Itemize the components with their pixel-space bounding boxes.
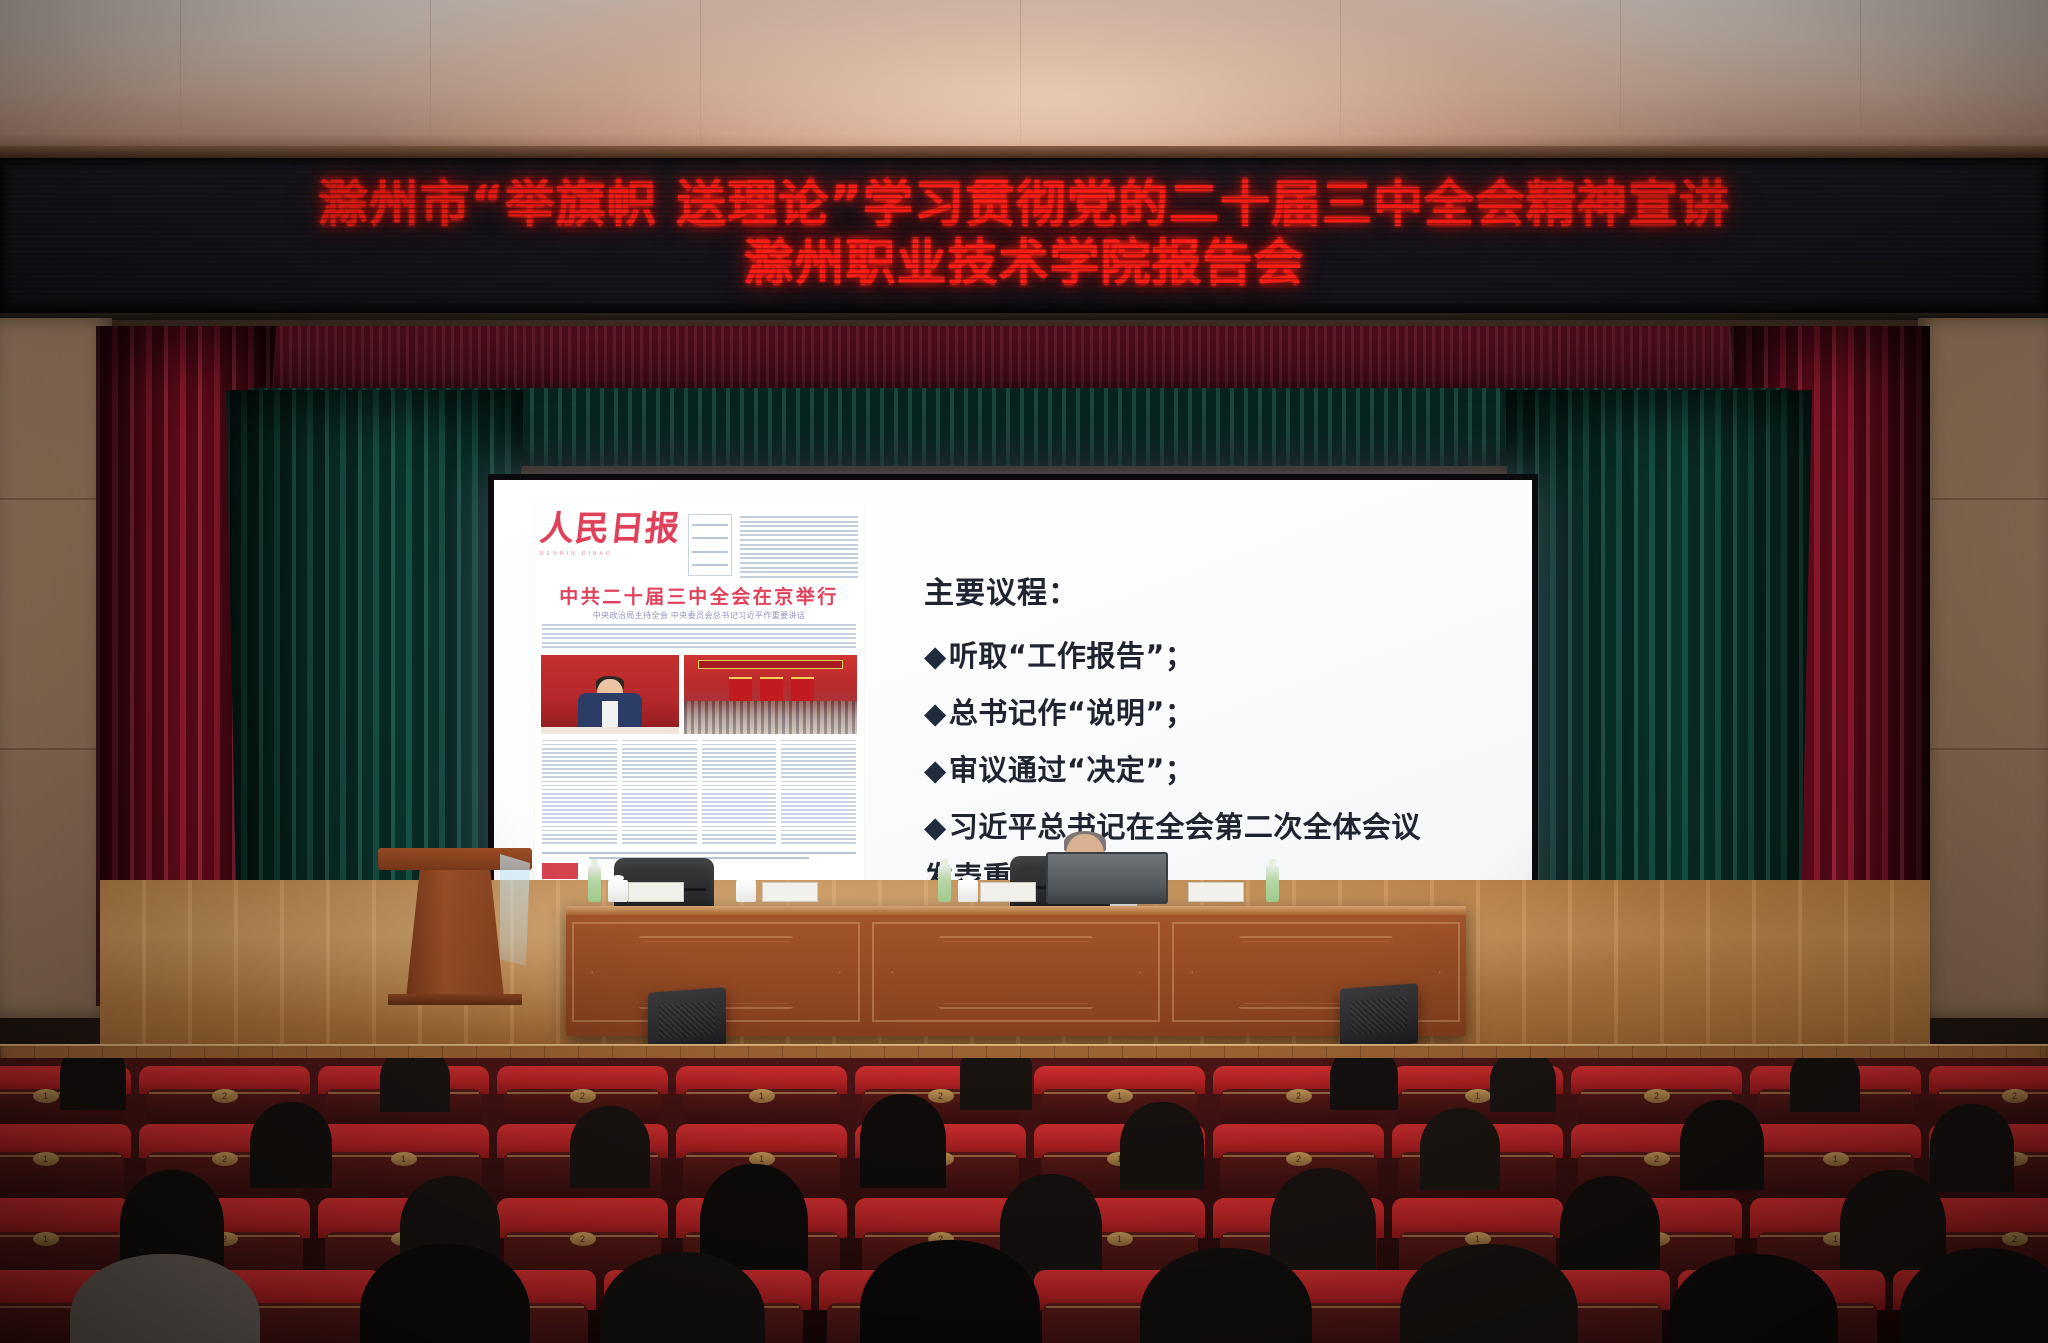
seat-number: 2 [212, 1152, 238, 1166]
seat-number: 2 [1286, 1089, 1312, 1103]
projection-screen: 人民日报 RENMIN RIBAO 中共二十届三中全会在京举行 中央政治局主持全… [494, 480, 1532, 910]
led-banner-line-2: 滁州职业技术学院报告会 [744, 232, 1305, 295]
agenda-title: 主要议程： [924, 568, 1504, 612]
agenda-item-3: ◆审议通过“决定”； [924, 752, 1504, 789]
lectern-body [406, 870, 504, 998]
table-nameplate [628, 882, 684, 902]
audience-area: 1 2 1 2 1 2 1 2 1 2 1 2 1 2 1 2 1 2 1 [0, 1058, 2048, 1343]
seat-number: 1 [1823, 1152, 1849, 1166]
ceiling-light-glow [369, 0, 1721, 152]
newspaper-body-columns [542, 740, 856, 846]
seat-number: 2 [1286, 1152, 1312, 1166]
projection-screen-frame: 人民日报 RENMIN RIBAO 中共二十届三中全会在京举行 中央政治局主持全… [488, 474, 1538, 916]
seat-number: 1 [749, 1089, 775, 1103]
led-banner-line-1: 滁州市“举旗帜 送理论”学习贯彻党的二十届三中全会精神宣讲 [318, 177, 1730, 232]
audience-member [1560, 1176, 1660, 1282]
water-bottle [1266, 866, 1279, 902]
agenda-item-2-label: 总书记作“说明”； [949, 696, 1195, 730]
diamond-bullet-icon: ◆ [924, 639, 947, 673]
wall-panel-right [1918, 318, 2048, 1018]
newspaper-photos [541, 655, 857, 733]
floor-monitor-right [1340, 983, 1418, 1048]
seat-number: 1 [391, 1152, 417, 1166]
newspaper-masthead: 人民日报 [538, 510, 682, 549]
seat-number: 1 [33, 1152, 59, 1166]
audience-member [570, 1106, 650, 1188]
diamond-bullet-icon: ◆ [924, 753, 947, 787]
agenda-item-4-label: 习近平总书记在全会第二次全体会议 [949, 810, 1421, 844]
agenda-item-1-label: 听取“工作报告”； [949, 639, 1195, 673]
audience-member [1930, 1104, 2014, 1192]
newspaper-date-box [688, 514, 732, 576]
ceiling [0, 0, 2048, 152]
slide-agenda: 主要议程： ◆听取“工作报告”； ◆总书记作“说明”； ◆审议通过“决定”； ◆… [864, 480, 1532, 910]
seat-number: 2 [1644, 1089, 1670, 1103]
audience-member [1680, 1100, 1764, 1190]
audience-member [960, 1058, 1032, 1110]
agenda-item-4: ◆习近平总书记在全会第二次全体会议 [924, 809, 1504, 846]
seat-number: 1 [33, 1232, 59, 1246]
audience-member [250, 1102, 332, 1188]
seat-number: 2 [2002, 1232, 2028, 1246]
newspaper-headline: 中共二十届三中全会在京举行 [540, 582, 858, 609]
tea-cup [736, 880, 756, 902]
seat-number: 2 [570, 1089, 596, 1103]
seat-number: 1 [1107, 1232, 1133, 1246]
led-banner: 滁州市“举旗帜 送理论”学习贯彻党的二十届三中全会精神宣讲 滁州职业技术学院报告… [0, 158, 2048, 313]
audience-member [1330, 1058, 1398, 1110]
newspaper-lead-text [542, 624, 856, 650]
floor-monitor-left [648, 987, 726, 1052]
seat-number: 2 [212, 1089, 238, 1103]
table-panel-center [872, 922, 1160, 1022]
table-nameplate [1188, 882, 1244, 902]
newspaper-photo-assembly [684, 655, 857, 733]
proscenium-valance [100, 326, 1930, 396]
lectern [392, 848, 518, 998]
seat-number: 1 [1465, 1089, 1491, 1103]
slide-newspaper-image: 人民日报 RENMIN RIBAO 中共二十届三中全会在京举行 中央政治局主持全… [534, 502, 864, 892]
newspaper-masthead-row: 人民日报 RENMIN RIBAO [534, 502, 864, 580]
tea-cup [608, 880, 628, 902]
lectern-glass-panel [500, 854, 530, 966]
diamond-bullet-icon: ◆ [924, 696, 947, 730]
table-nameplate [980, 882, 1036, 902]
audience-member [1420, 1108, 1500, 1190]
newspaper-footer-badge [542, 863, 578, 879]
lectern-base [388, 994, 522, 1005]
audience-member [1790, 1058, 1860, 1112]
newspaper-photo-speaker [541, 655, 679, 733]
laptop [1046, 852, 1168, 904]
water-bottle [588, 866, 601, 902]
seat-number: 2 [928, 1089, 954, 1103]
audience-member [380, 1058, 450, 1112]
audience-member [1490, 1058, 1556, 1112]
newspaper-masthead-pinyin: RENMIN RIBAO [540, 551, 680, 557]
seat-number: 1 [33, 1089, 59, 1103]
seat-number: 1 [1107, 1089, 1133, 1103]
newspaper-subheadline: 中央政治局主持全会 中央委员会总书记习近平作重要讲话 [540, 610, 858, 621]
tea-cup [958, 880, 978, 902]
audience-member [860, 1094, 946, 1188]
seat-number: 2 [1644, 1152, 1670, 1166]
agenda-item-1: ◆听取“工作报告”； [924, 638, 1504, 675]
table-nameplate [762, 882, 818, 902]
audience-member [60, 1058, 126, 1110]
audience-member [1120, 1102, 1204, 1190]
diamond-bullet-icon: ◆ [924, 810, 947, 844]
agenda-item-3-label: 审议通过“决定”； [949, 753, 1195, 787]
auditorium-photo: 滁州市“举旗帜 送理论”学习贯彻党的二十届三中全会精神宣讲 滁州职业技术学院报告… [0, 0, 2048, 1343]
wall-panel-left [0, 318, 112, 1018]
water-bottle [938, 866, 951, 902]
newspaper-top-column [740, 516, 858, 580]
agenda-item-2: ◆总书记作“说明”； [924, 695, 1504, 732]
seat-number: 2 [570, 1232, 596, 1246]
seat-number: 2 [2002, 1089, 2028, 1103]
